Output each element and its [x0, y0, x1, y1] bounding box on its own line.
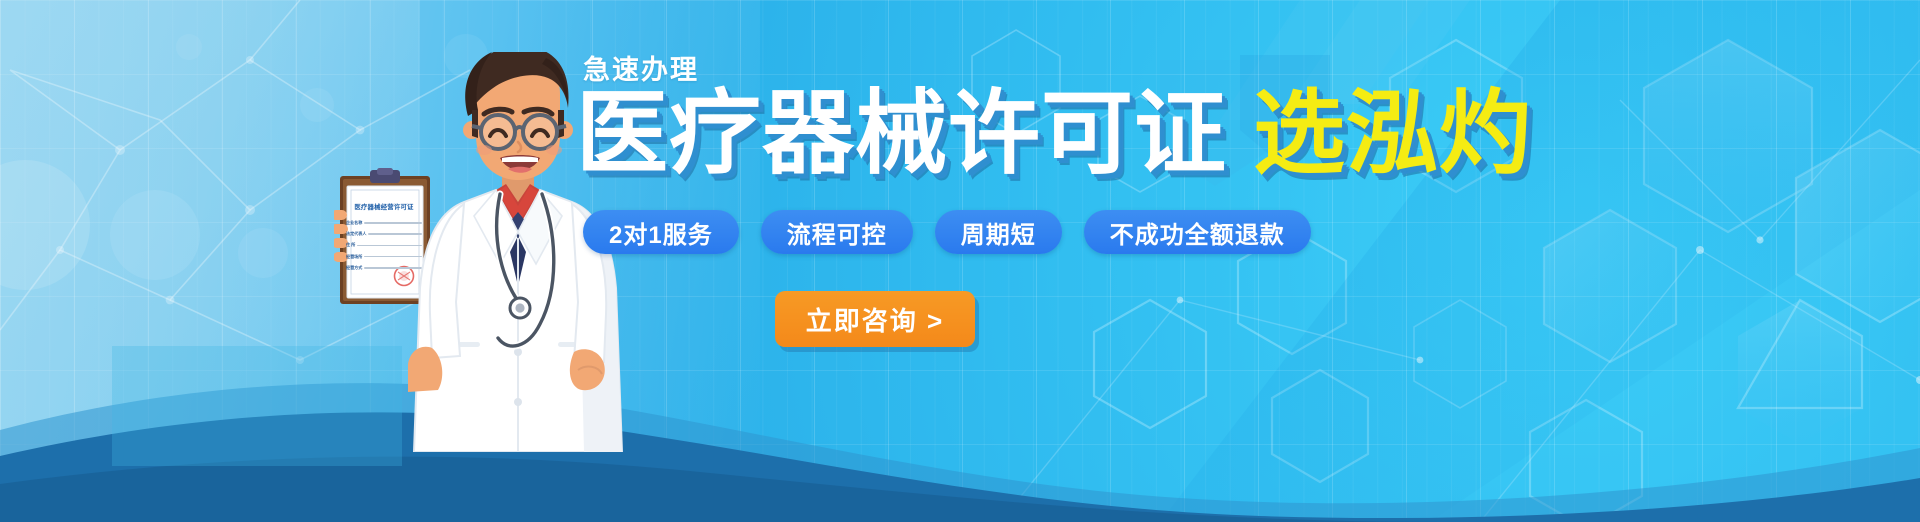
consult-now-button[interactable]: 立即咨询 > — [775, 291, 975, 347]
feature-pill-3[interactable]: 周期短 — [935, 210, 1062, 254]
feature-pill-list: 2对1服务 流程可控 周期短 不成功全额退款 — [583, 210, 1311, 254]
promo-banner: 医疗器械经营许可证 企业名称 法定代表人 住 所 经营场所 经营方式 — [0, 0, 1920, 522]
feature-pill-1[interactable]: 2对1服务 — [583, 210, 739, 254]
feature-pill-label: 不成功全额退款 — [1110, 215, 1285, 250]
headline-accent-text: 选泓灼 — [1253, 88, 1532, 180]
feature-pill-4[interactable]: 不成功全额退款 — [1084, 210, 1311, 254]
feature-pill-label: 2对1服务 — [609, 215, 713, 250]
banner-content: 急速办理 医疗器械许可证 选泓灼 2对1服务 流程可控 周期短 不成功全额退款 … — [0, 0, 1920, 522]
headline-main-text: 医疗器械许可证 — [576, 88, 1227, 180]
feature-pill-2[interactable]: 流程可控 — [761, 210, 913, 254]
feature-pill-label: 流程可控 — [787, 215, 887, 250]
eyebrow-text: 急速办理 — [583, 48, 699, 87]
headline: 医疗器械许可证 选泓灼 — [576, 88, 1532, 180]
feature-pill-label: 周期短 — [961, 215, 1036, 250]
